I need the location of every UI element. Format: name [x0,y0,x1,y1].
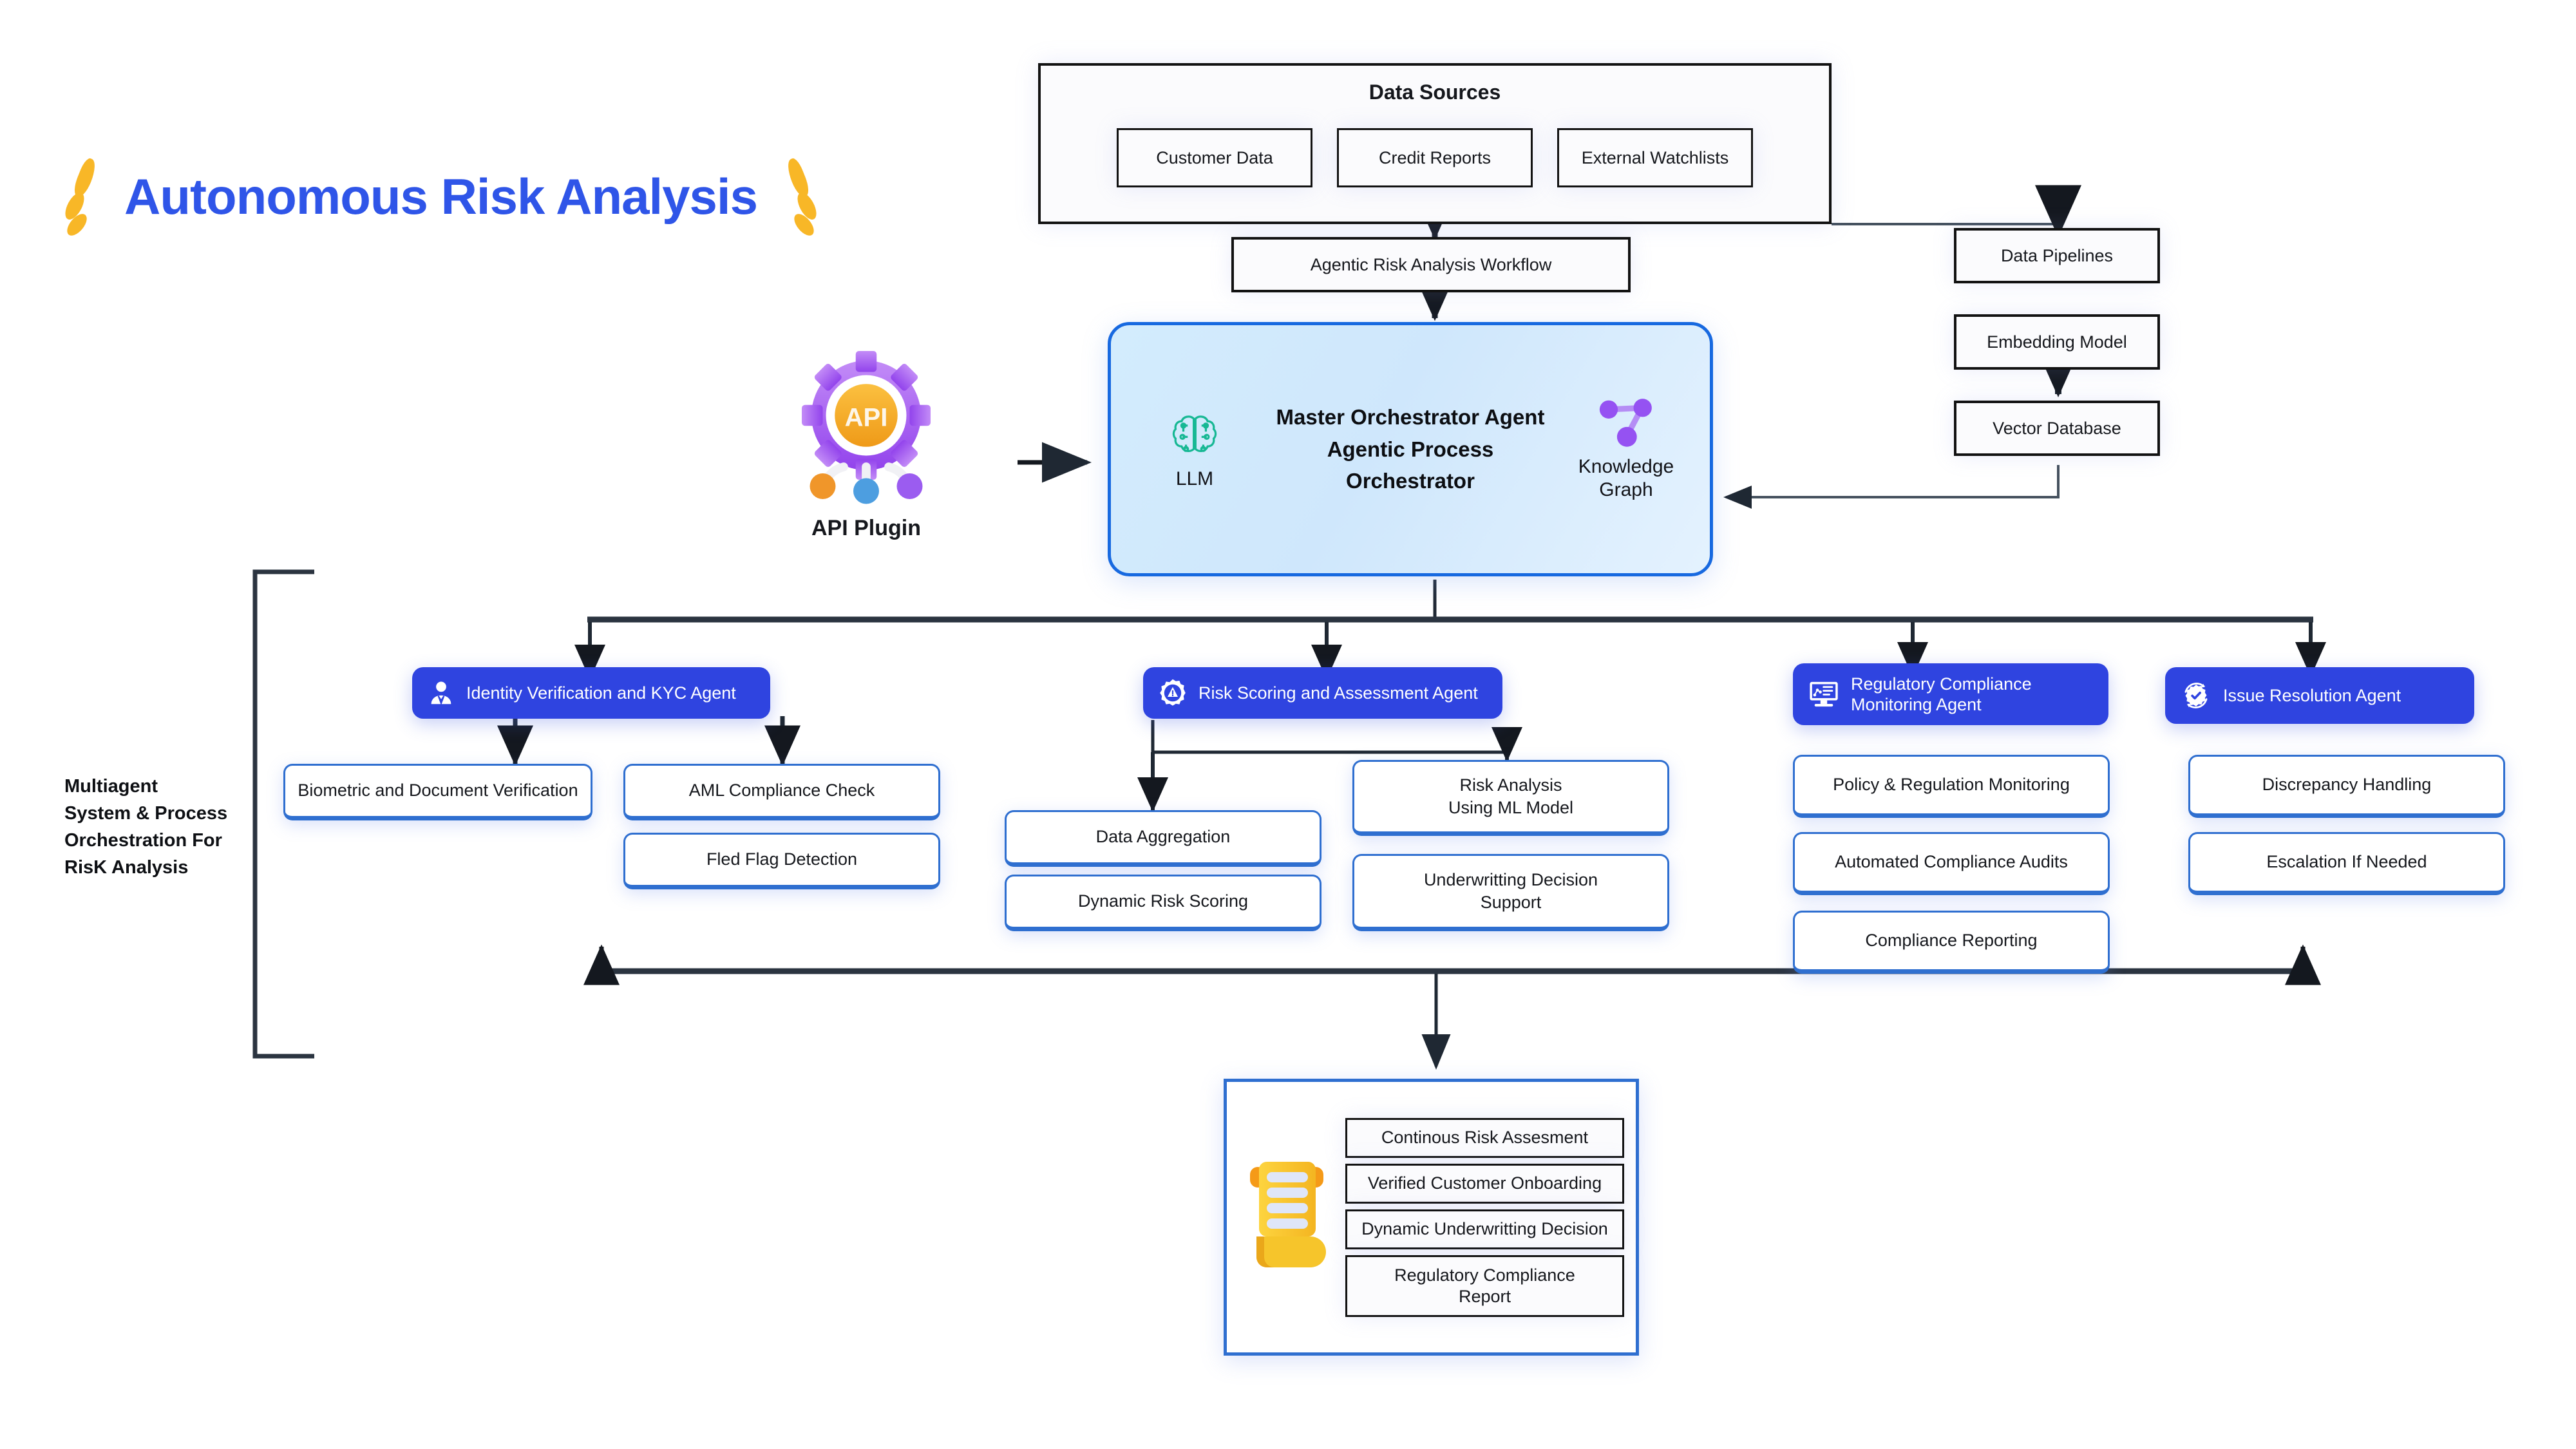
api-gear-icon: API [786,351,947,512]
task-label-line2: Using ML Model [1448,797,1573,819]
task-label: Automated Compliance Audits [1835,851,2068,873]
task-risk-analysis-ml-model[interactable]: Risk Analysis Using ML Model [1352,760,1669,836]
api-node-orange [810,473,836,499]
knowledge-graph-caption-line2: Graph [1578,478,1674,501]
api-node-purple [897,473,923,499]
output-label: Verified Customer Onboarding [1368,1173,1602,1194]
agent-regulatory-label-line1: Regulatory Compliance [1851,674,2032,694]
embedding-model-box[interactable]: Embedding Model [1954,314,2160,370]
page-title-text: Autonomous Risk Analysis [124,167,757,226]
refresh-check-badge-icon [2179,679,2213,712]
task-label: Biometric and Document Verification [298,779,578,802]
sparkle-left-icon [61,158,108,235]
output-continuous-risk-assessment[interactable]: Continous Risk Assesment [1345,1118,1624,1158]
data-source-label: Customer Data [1156,147,1273,169]
task-policy-regulation-monitoring[interactable]: Policy & Regulation Monitoring [1793,755,2110,818]
task-label: Compliance Reporting [1865,929,2037,952]
task-data-aggregation[interactable]: Data Aggregation [1005,810,1321,867]
orchestrator-title-line3: Orchestrator [1276,465,1545,497]
caption-line2: System & Process [64,800,277,827]
output-dynamic-underwriting-decision[interactable]: Dynamic Underwritting Decision [1345,1209,1624,1249]
agent-identity-verification-kyc[interactable]: Identity Verification and KYC Agent [412,667,770,719]
data-source-external-watchlists[interactable]: External Watchlists [1557,128,1753,187]
task-label-line2: Support [1481,891,1542,914]
line-risk-agent-branch-right [1153,720,1507,752]
page-title: Autonomous Risk Analysis [61,158,820,235]
knowledge-graph-block: Knowledge Graph [1568,397,1684,501]
data-source-credit-reports[interactable]: Credit Reports [1337,128,1533,187]
vector-database-label: Vector Database [1993,418,2121,439]
agent-regulatory-label-line2: Monitoring Agent [1851,694,2032,715]
workflow-label: Agentic Risk Analysis Workflow [1311,254,1552,276]
task-label-line1: Underwritting Decision [1424,869,1598,891]
output-verified-customer-onboarding[interactable]: Verified Customer Onboarding [1345,1164,1624,1204]
output-regulatory-compliance-report[interactable]: Regulatory Compliance Report [1345,1255,1624,1317]
knowledge-graph-icon [1597,397,1655,451]
orchestrator-title: Master Orchestrator Agent Agentic Proces… [1276,401,1545,497]
task-label: Dynamic Risk Scoring [1078,890,1248,913]
task-escalation-if-needed[interactable]: Escalation If Needed [2188,832,2505,895]
output-label-line1: Regulatory Compliance [1394,1265,1575,1286]
outputs-list: Continous Risk Assesment Verified Custom… [1345,1118,1624,1317]
monitor-chart-icon [1807,677,1841,711]
task-aml-compliance-check[interactable]: AML Compliance Check [623,764,940,820]
api-plugin[interactable]: API API Plugin [763,351,969,541]
multiagent-scope-caption: Multiagent System & Process Orchestratio… [64,773,277,881]
agentic-risk-analysis-workflow-box[interactable]: Agentic Risk Analysis Workflow [1231,237,1631,292]
agent-issue-resolution[interactable]: Issue Resolution Agent [2165,667,2474,724]
llm-block: LLM [1137,408,1253,490]
task-fled-flag-detection[interactable]: Fled Flag Detection [623,833,940,889]
outputs-panel: Continous Risk Assesment Verified Custom… [1224,1079,1639,1356]
task-biometric-document-verification[interactable]: Biometric and Document Verification [283,764,592,820]
task-label-line1: Risk Analysis [1459,774,1562,797]
api-node-blue [853,478,879,504]
caption-line3: Orchestration For [64,827,277,854]
data-pipelines-box[interactable]: Data Pipelines [1954,228,2160,283]
agent-risk-label: Risk Scoring and Assessment Agent [1198,683,1478,703]
task-label: Fled Flag Detection [706,848,857,871]
task-compliance-reporting[interactable]: Compliance Reporting [1793,911,2110,974]
master-orchestrator-panel: LLM Master Orchestrator Agent Agentic Pr… [1108,322,1713,576]
embedding-model-label: Embedding Model [1987,332,2127,353]
data-source-label: External Watchlists [1582,147,1729,169]
task-label: AML Compliance Check [689,779,875,802]
agent-identity-label: Identity Verification and KYC Agent [466,683,736,703]
warning-gear-icon [1157,677,1188,708]
sparkle-right-icon [774,158,820,235]
scroll-document-icon [1238,1139,1339,1296]
output-label: Continous Risk Assesment [1381,1127,1588,1148]
data-source-customer-data[interactable]: Customer Data [1117,128,1312,187]
person-badge-icon [426,678,456,708]
api-badge-text: API [845,403,888,431]
orchestrator-title-line2: Agentic Process [1276,433,1545,466]
data-pipelines-label: Data Pipelines [2001,245,2113,267]
output-label-line2: Report [1459,1286,1511,1307]
agent-issue-label: Issue Resolution Agent [2223,685,2401,706]
data-sources-heading: Data Sources [1369,80,1501,105]
data-sources-panel: Data Sources Customer Data Credit Report… [1038,63,1832,224]
task-automated-compliance-audits[interactable]: Automated Compliance Audits [1793,832,2110,895]
orchestrator-title-line1: Master Orchestrator Agent [1276,401,1545,433]
api-plugin-label: API Plugin [811,516,921,541]
caption-line1: Multiagent [64,773,277,800]
vector-database-box[interactable]: Vector Database [1954,401,2160,456]
agent-regulatory-compliance-monitoring[interactable]: Regulatory Compliance Monitoring Agent [1793,663,2108,725]
output-label: Dynamic Underwritting Decision [1361,1218,1608,1240]
task-label: Escalation If Needed [2266,851,2427,873]
data-source-label: Credit Reports [1379,147,1491,169]
task-underwriting-decision-support[interactable]: Underwritting Decision Support [1352,854,1669,931]
task-label: Data Aggregation [1096,826,1231,848]
agent-risk-scoring-assessment[interactable]: Risk Scoring and Assessment Agent [1143,667,1502,719]
task-label: Policy & Regulation Monitoring [1833,773,2070,796]
brain-icon [1167,408,1222,464]
task-label: Discrepancy Handling [2262,773,2432,796]
arrow-vectordb-to-orchestrator [1726,465,2058,497]
task-discrepancy-handling[interactable]: Discrepancy Handling [2188,755,2505,818]
llm-caption: LLM [1176,468,1213,490]
caption-line4: RisK Analysis [64,854,277,881]
task-dynamic-risk-scoring[interactable]: Dynamic Risk Scoring [1005,875,1321,931]
knowledge-graph-caption-line1: Knowledge [1578,455,1674,478]
